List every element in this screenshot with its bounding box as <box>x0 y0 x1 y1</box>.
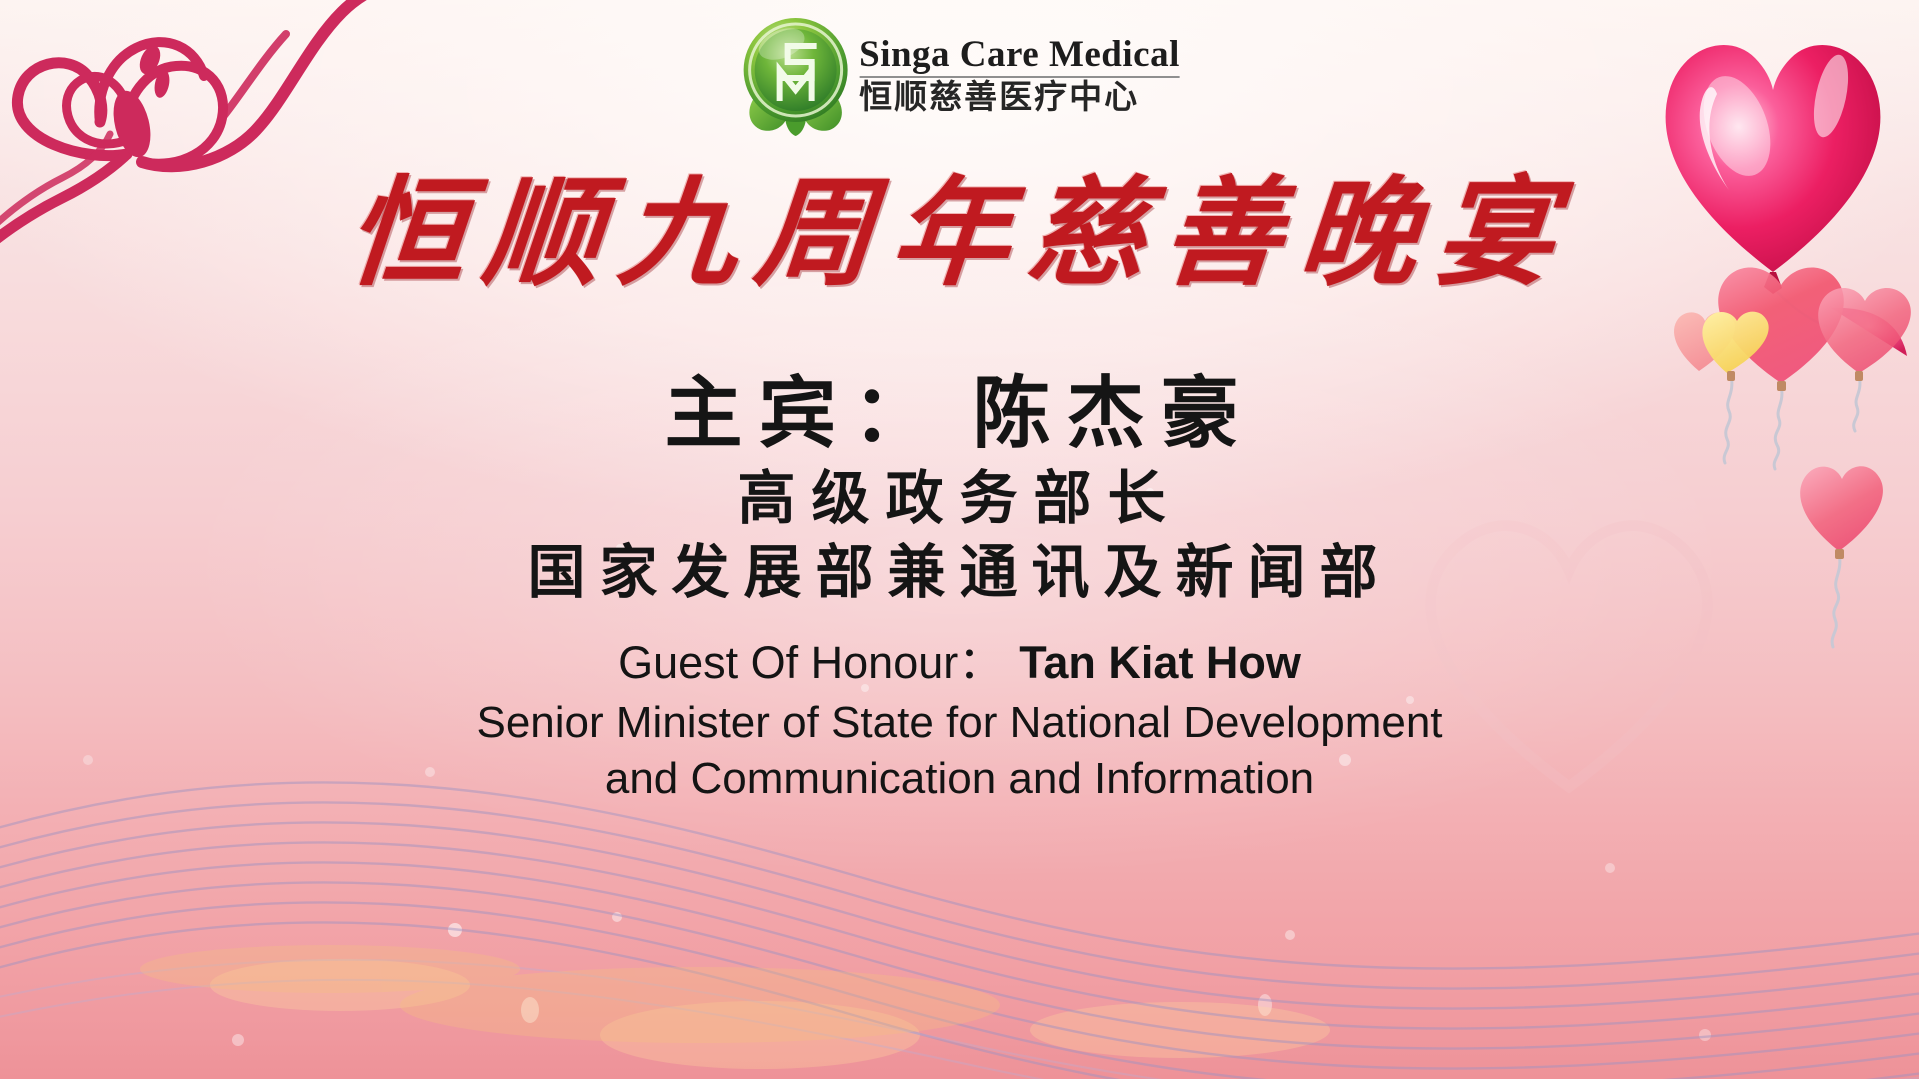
brand-logo: Singa Care Medical 恒顺慈善医疗中心 <box>739 14 1180 136</box>
guest-label-en: Guest Of Honour： <box>618 637 1003 688</box>
slide-canvas: Singa Care Medical 恒顺慈善医疗中心 恒顺九周年慈善晚宴 主宾… <box>0 0 1919 1079</box>
guest-role-zh-line1: 高级政务部长 <box>0 461 1919 538</box>
brand-name-zh: 恒顺慈善医疗中心 <box>859 80 1139 115</box>
guest-name-zh: 陈杰豪 <box>973 369 1255 457</box>
guest-name-en-line: Guest Of Honour：Tan Kiat How <box>0 635 1919 691</box>
event-title: 恒顺九周年慈善晚宴 <box>0 176 1919 294</box>
sm-medallion-icon <box>739 14 851 136</box>
guest-role-en-line1: Senior Minister of State for National De… <box>0 695 1919 751</box>
guest-role-zh-line2: 国家发展部兼通讯及新闻部 <box>0 538 1919 609</box>
guest-label-zh: 主宾： <box>664 369 946 457</box>
guest-name-en: Tan Kiat How <box>1019 637 1301 688</box>
guest-name-zh-line: 主宾：陈杰豪 <box>0 370 1919 457</box>
brand-name-en: Singa Care Medical <box>859 36 1180 75</box>
guest-role-en-line2: and Communication and Information <box>0 751 1919 807</box>
guest-of-honour-block: 主宾：陈杰豪 高级政务部长 国家发展部兼通讯及新闻部 Guest Of Hono… <box>0 370 1919 808</box>
